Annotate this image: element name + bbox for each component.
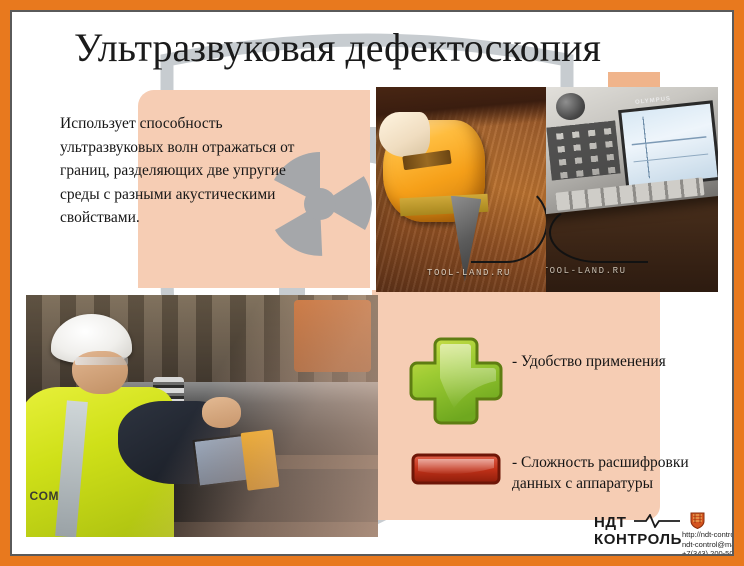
logo-website[interactable]: http://ndt-control.ru (682, 530, 732, 540)
probe-cable (471, 185, 546, 263)
safety-glasses (75, 357, 128, 366)
device-screen (618, 101, 718, 190)
photo-watermark-glove: TOOL-LAND.RU (427, 268, 511, 278)
slide-canvas: Ультразвуковая дефектоскопия Использует … (12, 12, 732, 554)
photo-technician: COM (26, 295, 378, 537)
photo-glove-transducer: TOOL-LAND.RU (376, 87, 546, 292)
green-plus-icon (408, 334, 504, 428)
ultrasound-wave-icon (634, 514, 680, 528)
slide-frame: Ультразвуковая дефектоскопия Использует … (0, 0, 744, 566)
logo-phone: +7(343) 200-50-22 (682, 549, 732, 554)
vest-logo-text: COM (30, 489, 60, 503)
slide-inner-border: Ультразвуковая дефектоскопия Использует … (10, 10, 734, 556)
company-logo-block[interactable]: НДТ КОНТРОЛЬ http://ndt-contro (594, 512, 732, 554)
logo-contact-details: http://ndt-control.ru ndt-control@mail.r… (682, 530, 732, 554)
glove-cuff (379, 112, 430, 157)
disadvantage-text: - Сложность расшифровки данных с аппарат… (512, 452, 712, 494)
device-ascan-trace (629, 111, 710, 181)
ndt-shield-icon (690, 512, 705, 529)
photo-watermark-device: TOOL-LAND.RU (546, 266, 627, 276)
logo-email[interactable]: ndt-control@mail.ru (682, 540, 732, 550)
device-keypad (547, 120, 621, 180)
orange-equipment (294, 300, 371, 373)
advantage-text: - Удобство применения (512, 351, 732, 372)
device-cable (549, 202, 647, 263)
logo-name-line2: КОНТРОЛЬ (594, 531, 682, 548)
photo-flaw-detector: OLYMPUS TOOL-LAND.RU (546, 87, 718, 292)
page-title: Ультразвуковая дефектоскопия (74, 24, 732, 72)
technician-hand (202, 397, 241, 428)
body-paragraph: Использует способность ультразвуковых во… (60, 112, 310, 230)
red-minus-icon (410, 452, 502, 486)
